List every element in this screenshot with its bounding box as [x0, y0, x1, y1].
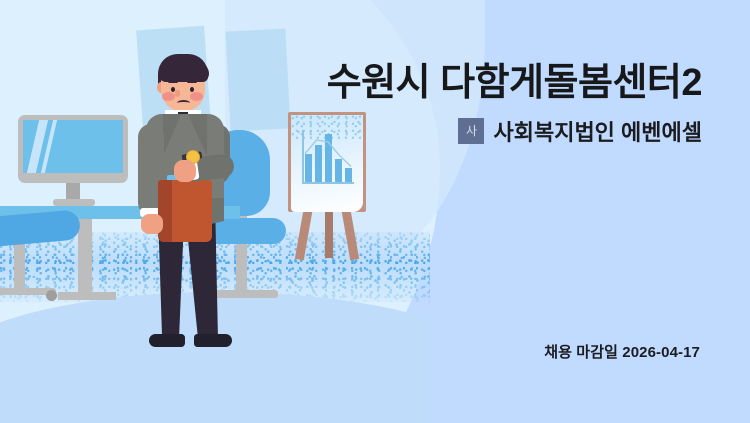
mouth-icon [177, 100, 190, 106]
eyebrow-right-icon [187, 80, 197, 83]
blush-left-icon [162, 92, 175, 101]
briefcase-flap-icon [158, 180, 172, 242]
eyebrow-left-icon [168, 80, 178, 83]
hand-right-icon [174, 160, 196, 182]
application-deadline: 채용 마감일 2026-04-17 [544, 341, 700, 362]
lapel-left-icon [163, 114, 181, 156]
shoe-right-icon [194, 334, 232, 347]
banner-text-block: 수원시 다함게돌봄센터2 사 사회복지법인 에벤에셀 [232, 62, 702, 147]
hand-left-icon [141, 214, 163, 234]
blush-right-icon [190, 92, 203, 101]
organization-row: 사 사회복지법인 에벤에셀 [232, 115, 702, 147]
shoe-left-icon [149, 334, 185, 347]
chart-x-axis [302, 182, 354, 184]
page-title: 수원시 다함게돌봄센터2 [232, 62, 702, 106]
nose-icon [175, 90, 180, 97]
job-posting-banner: 수원시 다함게돌봄센터2 사 사회복지법인 에벤에셀 채용 마감일 2026-0… [0, 0, 750, 423]
office-chair-left-post-icon [14, 240, 25, 295]
monitor-base-icon [53, 199, 95, 206]
office-chair-left-wheel-icon [46, 290, 57, 301]
organization-name: 사회복지법인 에벤에셀 [493, 115, 702, 147]
organization-type-badge: 사 [458, 118, 484, 144]
desk-leg-icon [78, 219, 92, 299]
desk-foot-icon [58, 292, 116, 300]
